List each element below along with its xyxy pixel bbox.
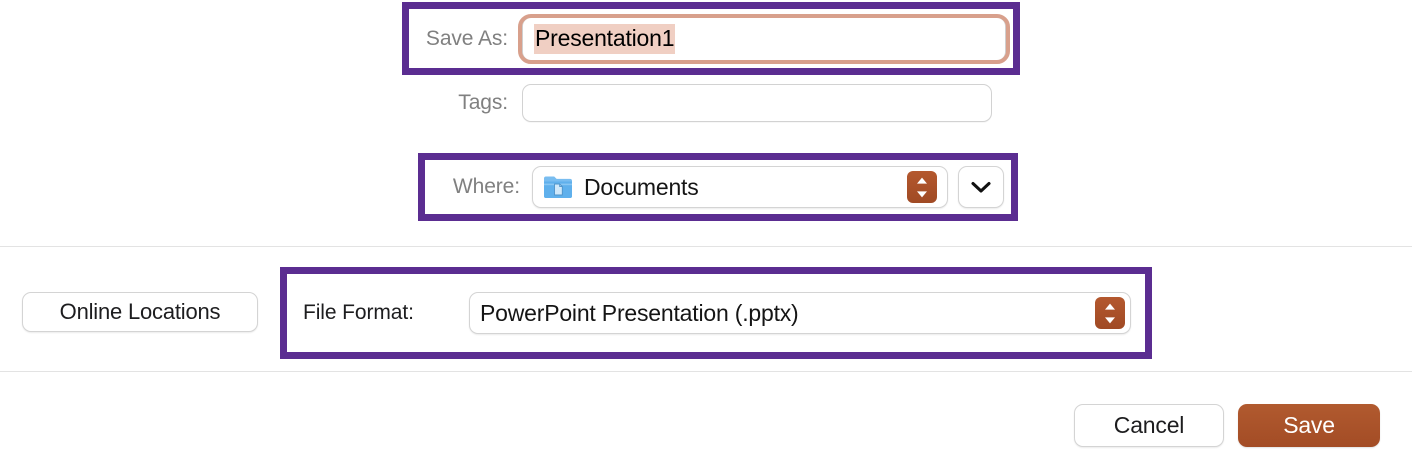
save-as-input-wrap: Presentation1: [522, 17, 1006, 61]
where-stepper-button[interactable]: [907, 171, 937, 203]
where-popup-button[interactable]: Documents: [532, 166, 948, 208]
chevron-down-icon: [970, 180, 992, 194]
save-dialog: Save As: Presentation1 Tags: Where: Docu…: [0, 0, 1412, 472]
save-as-row: Save As: Presentation1: [416, 10, 1006, 68]
up-down-chevron-icon: [1103, 315, 1117, 324]
save-as-label: Save As:: [416, 27, 508, 51]
file-format-stepper-button[interactable]: [1095, 297, 1125, 329]
file-format-label: File Format:: [303, 301, 455, 325]
where-expand-button[interactable]: [958, 166, 1004, 208]
file-format-row: File Format: PowerPoint Presentation (.p…: [303, 292, 1131, 334]
save-as-value: Presentation1: [534, 24, 675, 55]
up-down-chevron-icon: [915, 189, 929, 198]
blue-documents-folder-icon: [543, 174, 573, 200]
file-format-value: PowerPoint Presentation (.pptx): [480, 300, 1095, 327]
tags-label: Tags:: [416, 91, 508, 115]
tags-row: Tags:: [416, 83, 992, 123]
where-value: Documents: [584, 174, 907, 201]
save-as-input[interactable]: Presentation1: [522, 17, 1006, 61]
divider-top: [0, 246, 1412, 247]
tags-input[interactable]: [522, 84, 992, 122]
up-down-chevron-icon: [915, 177, 929, 186]
divider-bottom: [0, 371, 1412, 372]
save-button[interactable]: Save: [1238, 404, 1380, 447]
where-row: Where: Documents: [432, 164, 1004, 210]
file-format-popup-button[interactable]: PowerPoint Presentation (.pptx): [469, 292, 1131, 334]
cancel-button[interactable]: Cancel: [1074, 404, 1224, 447]
online-locations-button[interactable]: Online Locations: [22, 292, 258, 332]
where-label: Where:: [432, 175, 520, 199]
up-down-chevron-icon: [1103, 303, 1117, 312]
